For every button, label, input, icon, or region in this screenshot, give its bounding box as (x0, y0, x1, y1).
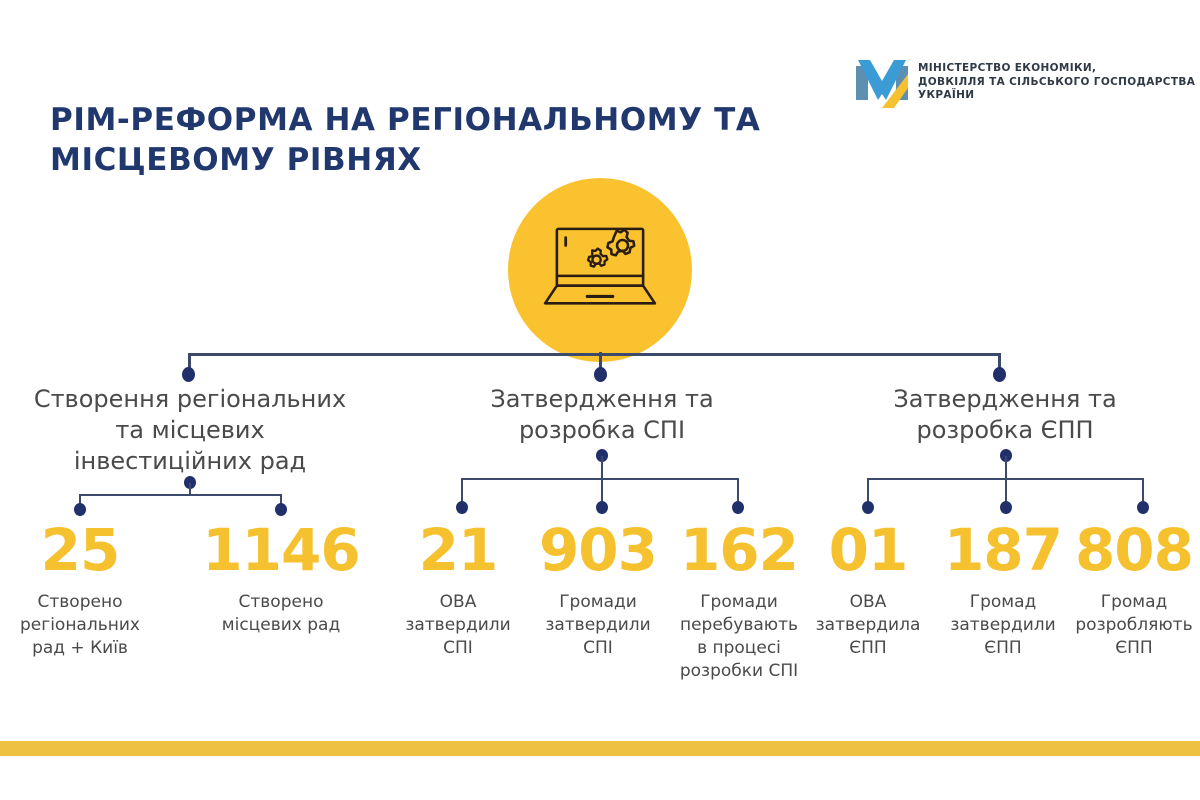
branch-2-leaf-node-2 (596, 501, 608, 514)
branch-1-heading-line-3: інвестиційних рад (0, 446, 380, 477)
level1-node-center (594, 367, 607, 382)
caption-line: Створено (5, 591, 155, 614)
branch-3-leaf-node-2 (1000, 501, 1012, 514)
caption-line: розробляють (1068, 614, 1200, 637)
caption-line: перебувають (668, 614, 810, 637)
stat-ova-approved-epp: 01 ОВА затвердила ЄПП (806, 520, 930, 660)
stat-value: 187 (933, 520, 1073, 580)
caption-line: в процесі (668, 637, 810, 660)
branch-2-heading-line-2: розробка СПІ (432, 415, 772, 446)
branch-3-leaf-node-1 (862, 501, 874, 514)
ministry-logo: МІНІСТЕРСТВО ЕКОНОМІКИ, ДОВКІЛЛЯ ТА СІЛЬ… (856, 58, 1195, 108)
stat-local-councils: 1146 Створено місцевих рад (200, 520, 362, 637)
laptop-gears-icon (508, 178, 692, 362)
branch-3-horizontal-line (867, 478, 1144, 480)
branch-1-heading-line-1: Створення регіональних (0, 384, 380, 415)
stat-caption: ОВА затвердили СПІ (395, 591, 521, 660)
stat-value: 1146 (200, 520, 362, 580)
logo-line-1: МІНІСТЕРСТВО ЕКОНОМІКИ, (918, 62, 1195, 76)
branch-3-stem-line (1005, 456, 1007, 505)
caption-line: ЄПП (933, 637, 1073, 660)
level1-node-right (993, 367, 1006, 382)
caption-line: СПІ (528, 637, 668, 660)
logo-line-2: ДОВКІЛЛЯ ТА СІЛЬСЬКОГО ГОСПОДАРСТВА (918, 76, 1195, 90)
stat-caption: Створено регіональних рад + Київ (5, 591, 155, 660)
stat-communities-approved-spi: 903 Громади затвердили СПІ (528, 520, 668, 660)
caption-line: місцевих рад (200, 614, 362, 637)
branch-2-heading-line-1: Затвердження та (432, 384, 772, 415)
bottom-accent-bar (0, 741, 1200, 756)
level1-horizontal-line (188, 353, 1001, 356)
ministry-logo-text: МІНІСТЕРСТВО ЕКОНОМІКИ, ДОВКІЛЛЯ ТА СІЛЬ… (918, 58, 1195, 103)
stat-value: 162 (668, 520, 810, 580)
branch-1-heading-line-2: та місцевих (0, 415, 380, 446)
stat-value: 25 (5, 520, 155, 580)
branch-2-leaf-node-3 (732, 501, 744, 514)
stat-caption: Громади затвердили СПІ (528, 591, 668, 660)
infographic-canvas: МІНІСТЕРСТВО ЕКОНОМІКИ, ДОВКІЛЛЯ ТА СІЛЬ… (0, 0, 1200, 800)
caption-line: ЄПП (806, 637, 930, 660)
branch-heading-investment-councils: Створення регіональних та місцевих інвес… (0, 384, 380, 477)
caption-line: затвердили (528, 614, 668, 637)
stat-regional-councils: 25 Створено регіональних рад + Київ (5, 520, 155, 660)
caption-line: ОВА (806, 591, 930, 614)
caption-line: Громади (668, 591, 810, 614)
branch-3-heading-line-1: Затвердження та (835, 384, 1175, 415)
stat-ova-approved-spi: 21 ОВА затвердили СПІ (395, 520, 521, 660)
stat-value: 903 (528, 520, 668, 580)
caption-line: затвердили (933, 614, 1073, 637)
stat-caption: ОВА затвердила ЄПП (806, 591, 930, 660)
branch-1-leaf-node-1 (74, 503, 86, 516)
branch-heading-spi: Затвердження та розробка СПІ (432, 384, 772, 446)
stat-caption: Громади перебувають в процесі розробки С… (668, 591, 810, 683)
caption-line: Громад (1068, 591, 1200, 614)
ministry-m-logo-icon (856, 58, 908, 108)
caption-line: Створено (200, 591, 362, 614)
stat-communities-developing-spi: 162 Громади перебувають в процесі розроб… (668, 520, 810, 683)
branch-2-stem-line (601, 456, 603, 505)
caption-line: Громади (528, 591, 668, 614)
branch-1-horizontal-line (79, 494, 282, 496)
branch-2-leaf-node-1 (456, 501, 468, 514)
branch-2-horizontal-line (461, 478, 739, 480)
stat-value: 21 (395, 520, 521, 580)
branch-1-leaf-node-2 (275, 503, 287, 516)
caption-line: затвердила (806, 614, 930, 637)
caption-line: розробки СПІ (668, 660, 810, 683)
stat-caption: Створено місцевих рад (200, 591, 362, 637)
stat-communities-approved-epp: 187 Громад затвердили ЄПП (933, 520, 1073, 660)
caption-line: СПІ (395, 637, 521, 660)
caption-line: регіональних (5, 614, 155, 637)
level1-node-left (182, 367, 195, 382)
logo-line-3: УКРАЇНИ (918, 89, 1195, 103)
stat-caption: Громад затвердили ЄПП (933, 591, 1073, 660)
stat-caption: Громад розробляють ЄПП (1068, 591, 1200, 660)
page-title: РІМ-РЕФОРМА НА РЕГІОНАЛЬНОМУ ТА МІСЦЕВОМ… (50, 100, 840, 180)
caption-line: затвердили (395, 614, 521, 637)
caption-line: рад + Київ (5, 637, 155, 660)
stat-value: 01 (806, 520, 930, 580)
caption-line: ЄПП (1068, 637, 1200, 660)
branch-3-heading-line-2: розробка ЄПП (835, 415, 1175, 446)
branch-heading-epp: Затвердження та розробка ЄПП (835, 384, 1175, 446)
caption-line: ОВА (395, 591, 521, 614)
caption-line: Громад (933, 591, 1073, 614)
stat-value: 808 (1068, 520, 1200, 580)
stat-communities-developing-epp: 808 Громад розробляють ЄПП (1068, 520, 1200, 660)
branch-3-leaf-node-3 (1137, 501, 1149, 514)
